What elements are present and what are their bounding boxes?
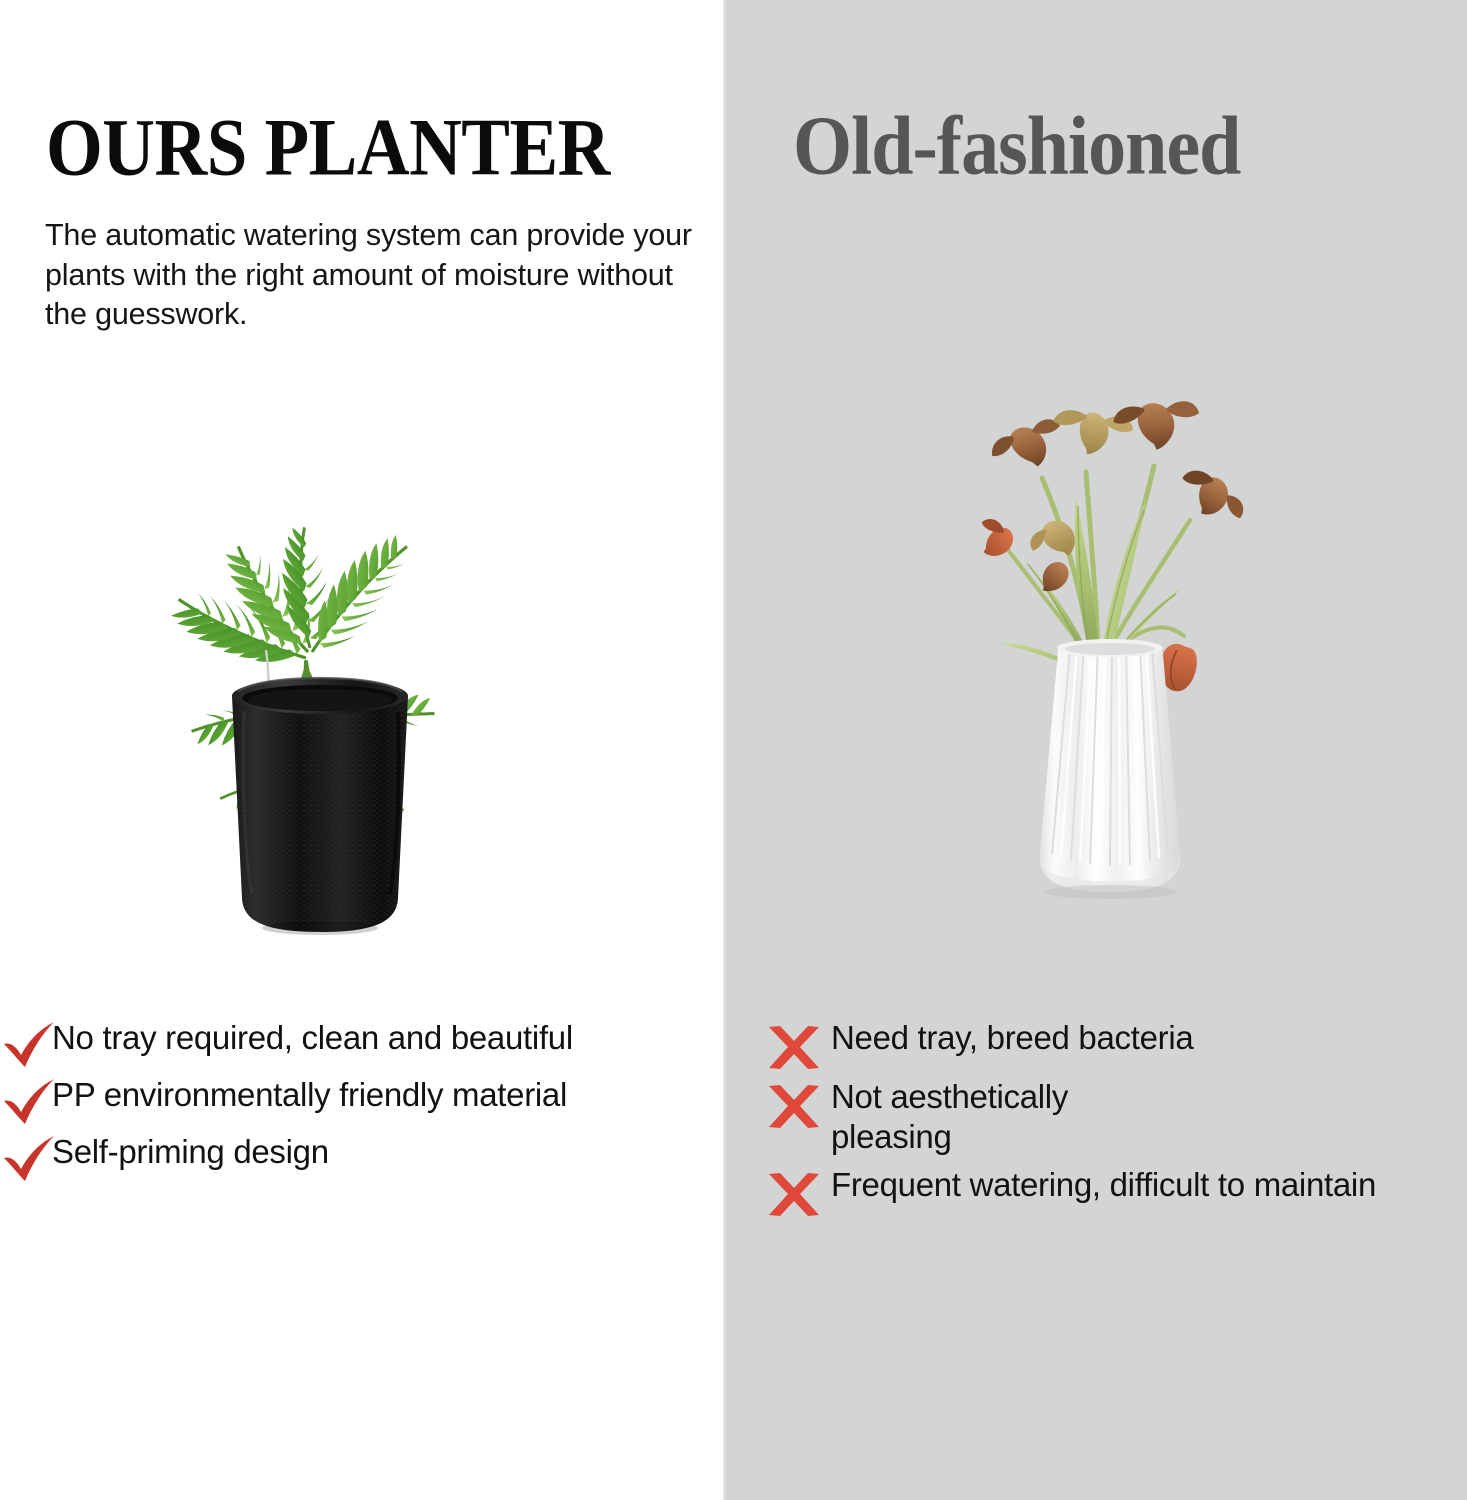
page-title-old-fashioned: Old-fashioned <box>793 104 1240 188</box>
potted-palm-plant-image <box>120 400 520 960</box>
benefits-list: No tray required, clean and beautiful PP… <box>2 1018 642 1189</box>
list-item: Need tray, breed bacteria <box>763 1018 1453 1070</box>
potted-palm-svg <box>120 400 520 960</box>
panel-ours-planter: OURS PLANTER The automatic watering syst… <box>0 0 723 1500</box>
cross-icon <box>763 1026 825 1070</box>
list-item-label: No tray required, clean and beautiful <box>52 1018 573 1058</box>
list-item: Not aesthetically pleasing <box>763 1077 1453 1158</box>
list-item-label: Need tray, breed bacteria <box>831 1018 1193 1058</box>
black-planter <box>232 678 408 935</box>
white-fluted-vase <box>1040 639 1180 899</box>
drawbacks-list: Need tray, breed bacteria Not aesthetica… <box>763 1018 1453 1224</box>
panel-old-fashioned: Old-fashioned <box>723 0 1467 1500</box>
cross-icon <box>763 1085 825 1129</box>
list-item-label: Frequent watering, difficult to maintain <box>831 1165 1376 1205</box>
comparison-infographic: OURS PLANTER The automatic watering syst… <box>0 0 1467 1500</box>
list-item-label: PP environmentally friendly material <box>52 1075 567 1115</box>
list-item-label: Self-priming design <box>52 1132 329 1172</box>
check-icon <box>2 1079 56 1125</box>
list-item: PP environmentally friendly material <box>2 1075 642 1125</box>
wilted-flowers-image <box>940 400 1280 940</box>
cross-icon <box>763 1173 825 1217</box>
list-item: Frequent watering, difficult to maintain <box>763 1165 1453 1217</box>
list-item: No tray required, clean and beautiful <box>2 1018 642 1068</box>
page-title-ours-planter: OURS PLANTER <box>46 106 610 188</box>
ours-planter-description: The automatic watering system can provid… <box>45 216 717 335</box>
wilted-flowers-svg <box>940 400 1280 940</box>
check-icon <box>2 1136 56 1182</box>
list-item-label: Not aesthetically pleasing <box>831 1077 1161 1158</box>
list-item: Self-priming design <box>2 1132 642 1182</box>
check-icon <box>2 1022 56 1068</box>
